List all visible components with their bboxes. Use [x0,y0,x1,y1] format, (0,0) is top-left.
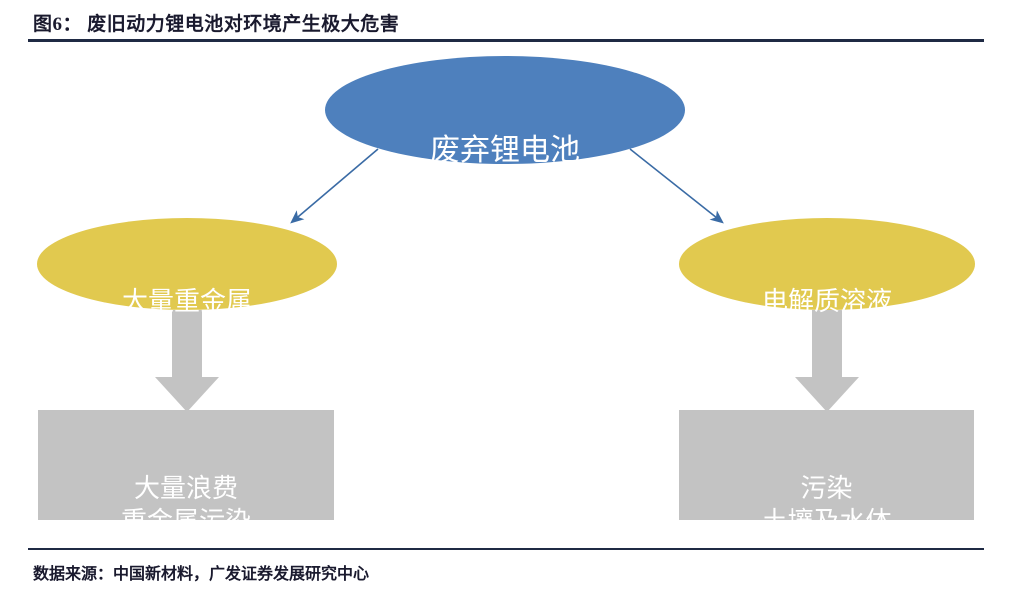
figure-source: 数据来源：中国新材料，广发证券发展研究中心 [33,560,369,584]
node-waste-lithium-battery [325,56,685,164]
connector-root-to-electrolyte [630,149,722,222]
connector-root-to-heavy-metals [292,149,378,222]
connector-electrolyte-to-pollution [795,310,859,412]
connector-heavy-metals-to-waste [155,310,219,412]
figure-title: 图6： 废旧动力锂电池对环境产生极大危害 [33,9,399,36]
diagram-canvas: 废弃锂电池 大量重金属 电解质溶液 大量浪费 重金属污染 污染 土壤及水体 [0,44,1012,544]
node-electrolyte-solution [679,218,975,310]
title-divider-rule [28,39,984,42]
source-divider-rule [28,548,984,550]
node-waste-heavy-metal-pollution [38,410,334,520]
figure-container: 图6： 废旧动力锂电池对环境产生极大危害 [0,0,1012,590]
node-soil-water-pollution [679,410,974,520]
node-heavy-metals [37,218,337,310]
